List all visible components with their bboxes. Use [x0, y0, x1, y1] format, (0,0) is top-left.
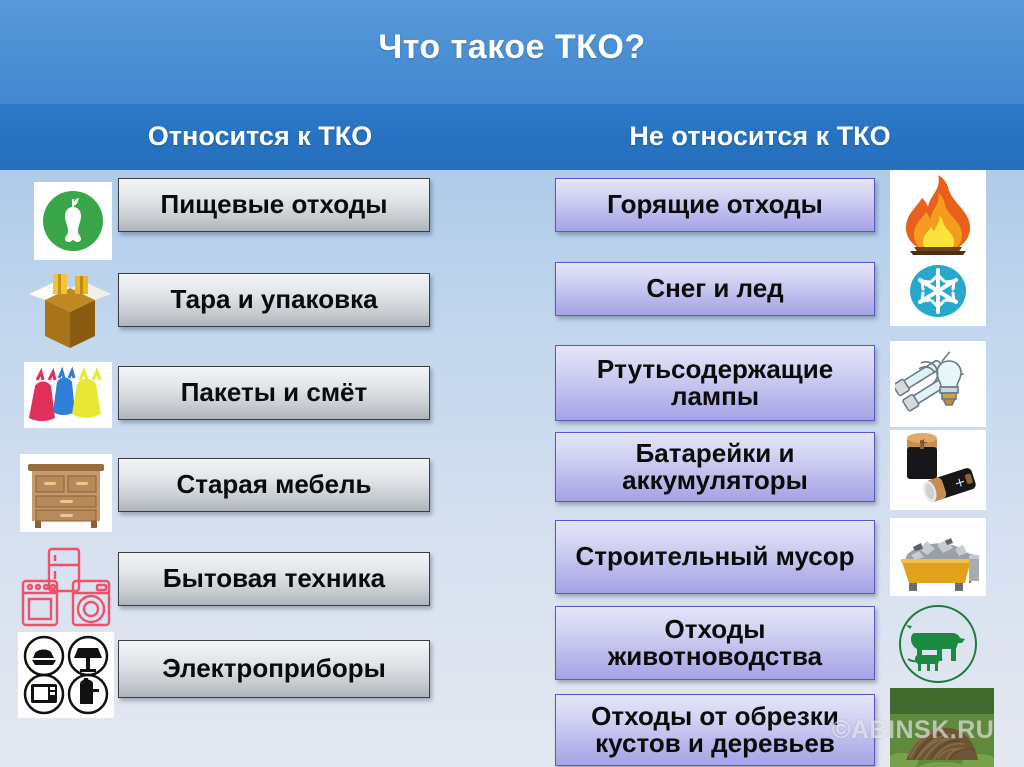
fire-icon — [890, 170, 986, 258]
page-title: Что такое ТКО? — [0, 28, 1024, 67]
snowflake-icon — [890, 256, 986, 326]
list-item-label[interactable]: Снег и лед — [555, 262, 875, 316]
electric-appliances-icon — [18, 632, 114, 718]
home-appliances-icon — [16, 542, 116, 630]
brush-pile-icon — [890, 688, 994, 767]
list-item-label[interactable]: Электроприборы — [118, 640, 430, 698]
list-item[interactable]: Строительный мусор — [500, 520, 1024, 614]
plastic-bags-icon — [24, 362, 112, 428]
list-item[interactable]: Пакеты и смёт — [0, 360, 500, 452]
list-item[interactable]: Тара и упаковка — [0, 267, 500, 359]
list-item[interactable]: Электроприборы — [0, 632, 500, 726]
list-item-label[interactable]: Ртутьсодержащие лампы — [555, 345, 875, 421]
cattle-icon — [890, 602, 986, 686]
column-header-included: Относится к ТКО — [0, 121, 520, 152]
title-band: Что такое ТКО? — [0, 0, 1024, 104]
list-item-label[interactable]: Горящие отходы — [555, 178, 875, 232]
fluorescent-lamp-icon — [890, 341, 986, 427]
list-item-label[interactable]: Пакеты и смёт — [118, 366, 430, 420]
list-item[interactable]: Бытовая техника — [0, 542, 500, 636]
cardboard-box-icon — [24, 267, 116, 353]
list-item[interactable]: Батарейки и аккумуляторы + — [500, 432, 1024, 526]
list-item[interactable]: Отходы от обрезки кустов и деревьев — [500, 694, 1024, 767]
svg-text:+: + — [919, 436, 928, 449]
dresser-icon — [20, 454, 112, 532]
list-item-label[interactable]: Отходы от обрезки кустов и деревьев — [555, 694, 875, 766]
apple-core-icon — [34, 182, 112, 260]
list-item-label[interactable]: Тара и упаковка — [118, 273, 430, 327]
construction-skip-icon — [890, 518, 986, 596]
content-area: Пищевые отходы — [0, 170, 1024, 767]
column-header-band: Относится к ТКО Не относится к ТКО — [0, 104, 1024, 170]
list-item-label[interactable]: Бытовая техника — [118, 552, 430, 606]
battery-icon: + + — [890, 430, 986, 510]
column-header-excluded: Не относится к ТКО — [500, 121, 1020, 152]
list-item[interactable]: Снег и лед — [500, 262, 1024, 344]
list-item-label[interactable]: Старая мебель — [118, 458, 430, 512]
list-item-label[interactable]: Строительный мусор — [555, 520, 875, 594]
list-item[interactable]: Горящие отходы — [500, 178, 1024, 260]
list-item[interactable]: Пищевые отходы — [0, 178, 500, 264]
list-item-label[interactable]: Батарейки и аккумуляторы — [555, 432, 875, 502]
list-item-label[interactable]: Пищевые отходы — [118, 178, 430, 232]
slide-root: Что такое ТКО? Относится к ТКО Не относи… — [0, 0, 1024, 767]
list-item-label[interactable]: Отходы животноводства — [555, 606, 875, 680]
list-item[interactable]: Старая мебель — [0, 452, 500, 544]
